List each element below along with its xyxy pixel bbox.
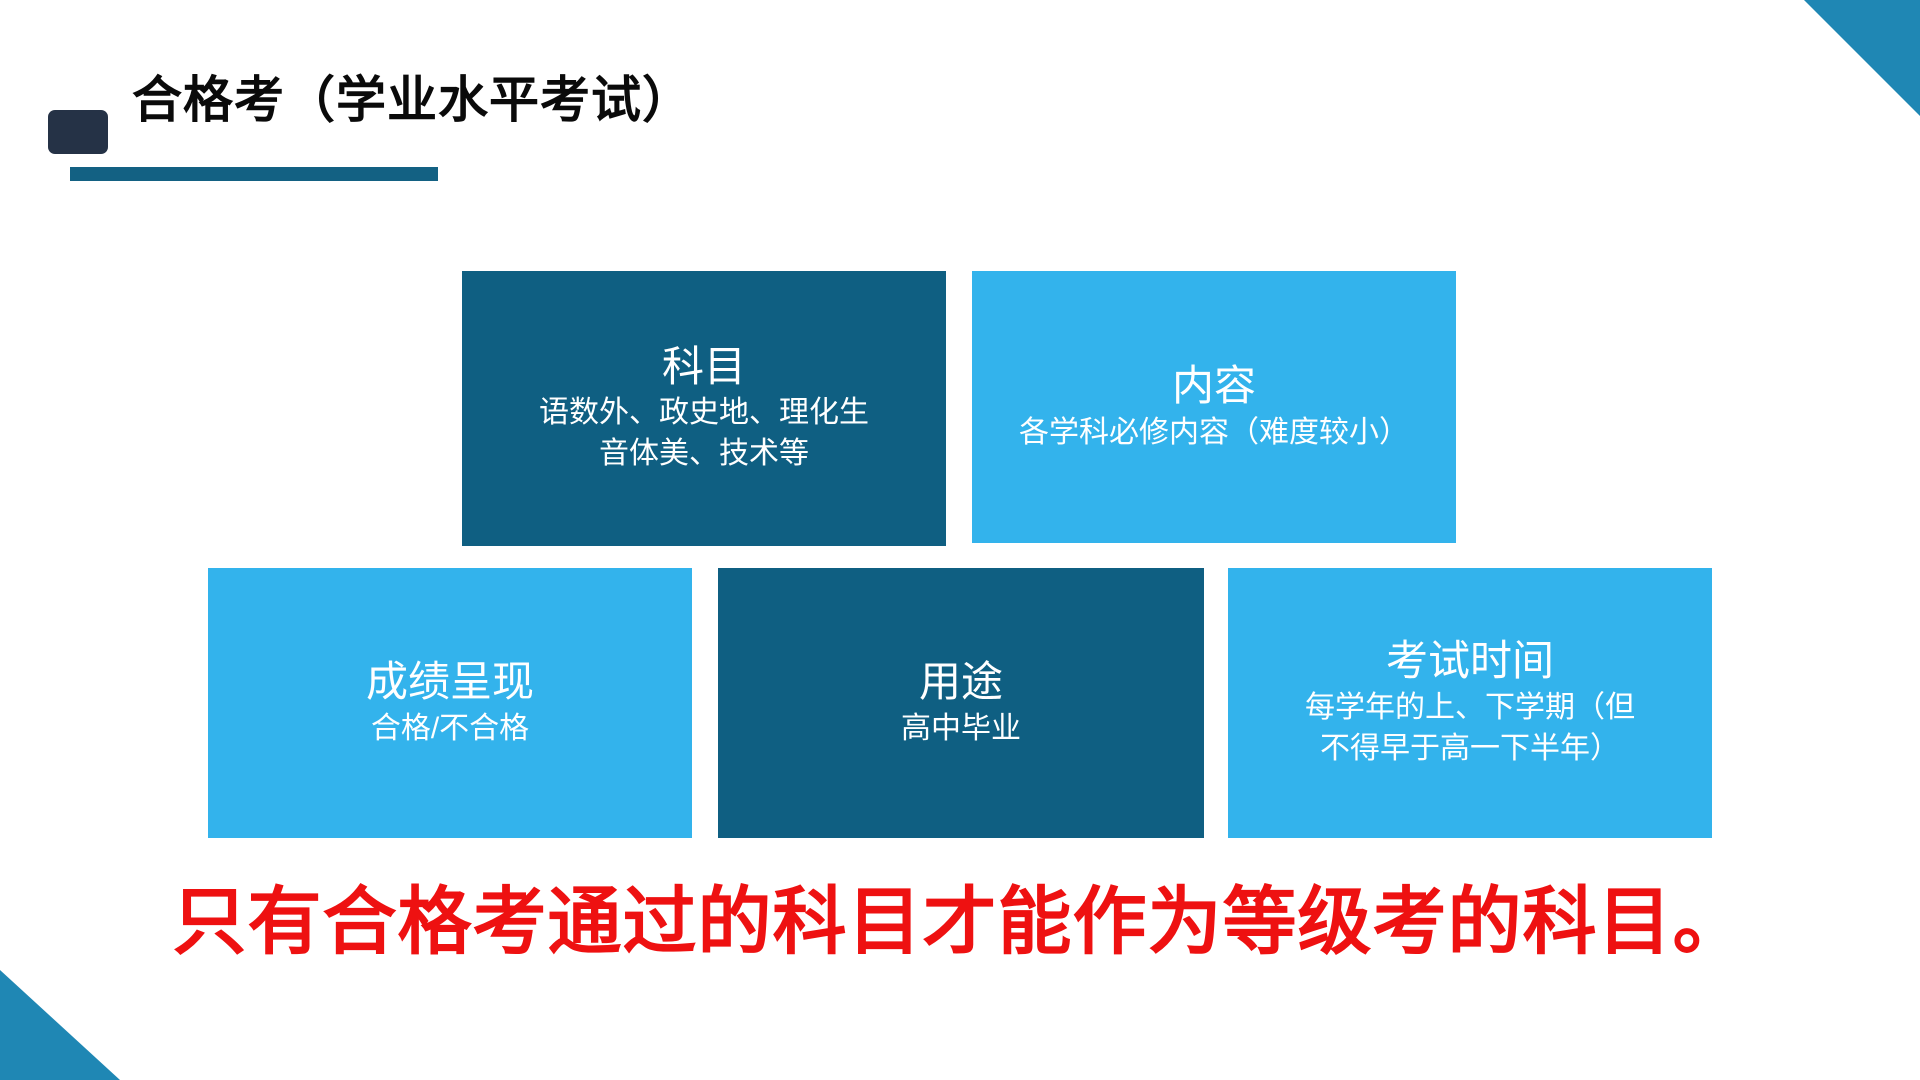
page-title: 合格考（学业水平考试）: [132, 70, 693, 130]
card-purpose: 用途 高中毕业: [718, 568, 1204, 838]
card-content-title: 内容: [1172, 361, 1256, 411]
card-subject: 科目 语数外、政史地、理化生 音体美、技术等: [462, 271, 946, 546]
card-content: 内容 各学科必修内容（难度较小）: [972, 271, 1456, 543]
card-purpose-title: 用途: [919, 657, 1003, 707]
title-underline-bar: [70, 167, 438, 181]
card-content-desc: 各学科必修内容（难度较小）: [1019, 413, 1409, 453]
card-result-desc: 合格/不合格: [371, 709, 529, 749]
slide-canvas: 合格考（学业水平考试） 科目 语数外、政史地、理化生 音体美、技术等 内容 各学…: [0, 0, 1920, 1080]
card-result-title: 成绩呈现: [366, 657, 534, 707]
card-purpose-desc: 高中毕业: [901, 709, 1021, 749]
corner-triangle-top-right-icon: [1804, 0, 1920, 116]
card-time-desc: 每学年的上、下学期（但 不得早于高一下半年）: [1305, 688, 1635, 770]
card-time: 考试时间 每学年的上、下学期（但 不得早于高一下半年）: [1228, 568, 1712, 838]
card-subject-desc: 语数外、政史地、理化生 音体美、技术等: [539, 393, 869, 475]
emphasis-note: 只有合格考通过的科目才能作为等级考的科目。: [0, 862, 1920, 969]
card-subject-title: 科目: [662, 342, 746, 392]
card-result: 成绩呈现 合格/不合格: [208, 568, 692, 838]
title-square-icon: [48, 110, 108, 154]
corner-triangle-bottom-left-icon: [0, 970, 120, 1080]
card-time-title: 考试时间: [1386, 636, 1554, 686]
